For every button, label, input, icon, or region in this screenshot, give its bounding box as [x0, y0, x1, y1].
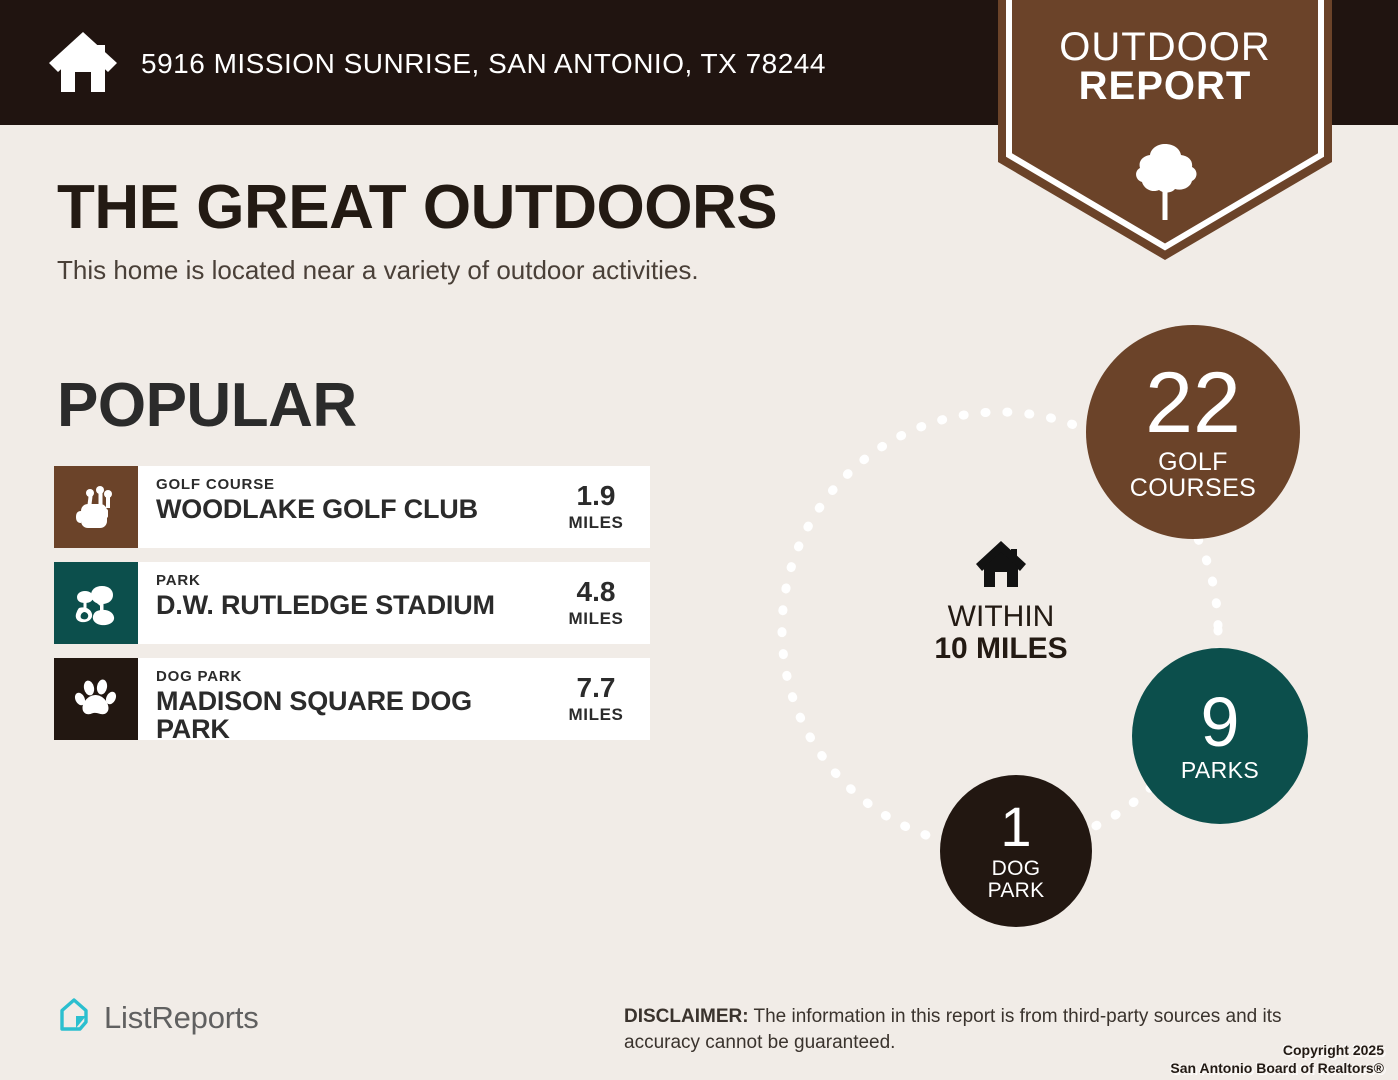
- page-title: THE GREAT OUTDOORS: [57, 172, 777, 243]
- stat-count: 9: [1201, 689, 1240, 756]
- copyright-notice: Copyright 2025 San Antonio Board of Real…: [964, 1042, 1384, 1077]
- stat-label-line-1: DOG: [988, 858, 1045, 880]
- stat-count: 22: [1145, 363, 1241, 445]
- page-subtitle: This home is located near a variety of o…: [57, 255, 699, 286]
- distance-value: 7.7: [577, 674, 616, 702]
- list-item-name: WOODLAKE GOLF CLUB: [156, 495, 548, 524]
- disclaimer-label: DISCLAIMER:: [624, 1006, 749, 1027]
- stat-label-line-1: GOLF: [1130, 449, 1256, 475]
- listreports-logo[interactable]: ListReports: [56, 996, 259, 1039]
- home-icon: [48, 30, 118, 94]
- list-item-distance: 7.7 MILES: [548, 658, 650, 740]
- list-item[interactable]: PARK D.W. RUTLEDGE STADIUM 4.8 MILES: [54, 562, 650, 644]
- paw-print-icon: [54, 658, 138, 740]
- list-item-body: PARK D.W. RUTLEDGE STADIUM: [138, 562, 548, 644]
- park-tree-icon: [54, 562, 138, 644]
- list-item-category: DOG PARK: [156, 669, 548, 685]
- list-item-category: PARK: [156, 573, 548, 589]
- distance-value: 4.8: [577, 578, 616, 606]
- within-distance: 10 MILES: [896, 633, 1106, 665]
- stat-bubble-parks[interactable]: 9 PARKS: [1132, 648, 1308, 824]
- stat-label: DOG PARK: [988, 858, 1045, 902]
- outdoor-report-badge: OUTDOOR REPORT: [998, 0, 1332, 260]
- listreports-house-icon: [56, 996, 92, 1039]
- within-label: WITHIN: [896, 601, 1106, 633]
- property-address: 5916 MISSION SUNRISE, SAN ANTONIO, TX 78…: [141, 48, 826, 80]
- list-item-category: GOLF COURSE: [156, 477, 548, 493]
- list-item-body: GOLF COURSE WOODLAKE GOLF CLUB: [138, 466, 548, 548]
- stat-label-line-2: PARK: [988, 880, 1045, 902]
- stat-label-line-2: COURSES: [1130, 475, 1256, 501]
- list-item[interactable]: GOLF COURSE WOODLAKE GOLF CLUB 1.9 MILES: [54, 466, 650, 548]
- list-item-distance: 4.8 MILES: [548, 562, 650, 644]
- stat-label: GOLF COURSES: [1130, 449, 1256, 501]
- golf-bag-icon: [54, 466, 138, 548]
- list-item-name: MADISON SQUARE DOG PARK: [156, 687, 548, 740]
- distance-unit: MILES: [569, 705, 624, 725]
- home-icon: [896, 540, 1106, 593]
- distance-unit: MILES: [569, 609, 624, 629]
- distance-value: 1.9: [577, 482, 616, 510]
- outdoor-report-page: 5916 MISSION SUNRISE, SAN ANTONIO, TX 78…: [0, 0, 1398, 1080]
- popular-list: GOLF COURSE WOODLAKE GOLF CLUB 1.9 MILES: [54, 466, 650, 754]
- stat-label: PARKS: [1181, 759, 1259, 783]
- popular-heading: POPULAR: [57, 370, 357, 441]
- list-item-name: D.W. RUTLEDGE STADIUM: [156, 591, 548, 620]
- distance-unit: MILES: [569, 513, 624, 533]
- stat-bubble-dog-park[interactable]: 1 DOG PARK: [940, 775, 1092, 927]
- listreports-logo-text: ListReports: [104, 1000, 259, 1036]
- proximity-diagram: 22 GOLF COURSES 9 PARKS 1 DOG PARK: [700, 300, 1360, 940]
- copyright-line-2: San Antonio Board of Realtors®: [964, 1060, 1384, 1078]
- list-item-distance: 1.9 MILES: [548, 466, 650, 548]
- stat-bubble-golf-courses[interactable]: 22 GOLF COURSES: [1086, 325, 1300, 539]
- stat-count: 1: [1000, 800, 1031, 853]
- list-item[interactable]: DOG PARK MADISON SQUARE DOG PARK 7.7 MIL…: [54, 658, 650, 740]
- copyright-line-1: Copyright 2025: [964, 1042, 1384, 1060]
- list-item-body: DOG PARK MADISON SQUARE DOG PARK: [138, 658, 548, 740]
- diagram-center: WITHIN 10 MILES: [896, 540, 1106, 666]
